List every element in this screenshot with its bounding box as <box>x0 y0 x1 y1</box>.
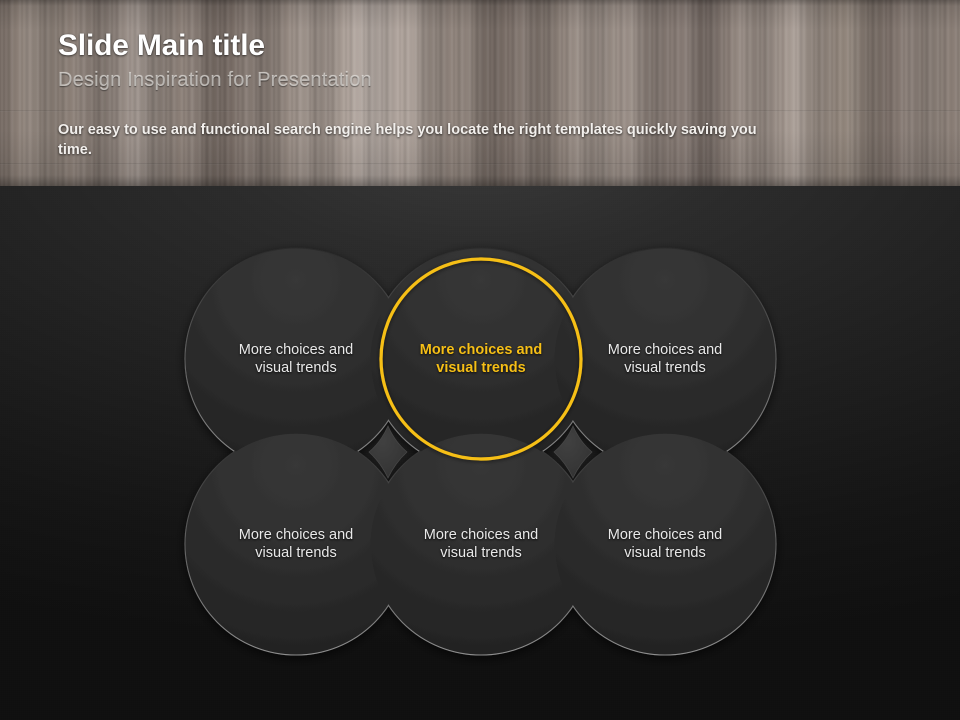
circle-label-top-center[interactable]: More choices and visual trends <box>381 341 581 377</box>
label-line-1: More choices and <box>565 341 765 359</box>
six-circle-diagram <box>0 186 960 720</box>
header-description-text: Our easy to use and functional search en… <box>58 120 773 160</box>
label-line-2: visual trends <box>565 544 765 562</box>
label-line-1: More choices and <box>381 341 581 359</box>
label-line-2: visual trends <box>381 359 581 377</box>
page-subtitle: Design Inspiration for Presentation <box>58 66 888 94</box>
label-line-2: visual trends <box>196 359 396 377</box>
circle-label-bottom-left[interactable]: More choices and visual trends <box>196 526 396 562</box>
label-line-1: More choices and <box>196 526 396 544</box>
slide-body-stage <box>0 186 960 720</box>
label-line-2: visual trends <box>565 359 765 377</box>
page-title: Slide Main title <box>58 28 888 64</box>
circle-label-top-right[interactable]: More choices and visual trends <box>565 341 765 377</box>
label-line-1: More choices and <box>196 341 396 359</box>
label-line-1: More choices and <box>381 526 581 544</box>
presentation-slide: Slide Main title Design Inspiration for … <box>0 0 960 720</box>
circle-cluster-shape <box>185 248 776 655</box>
circle-label-bottom-right[interactable]: More choices and visual trends <box>565 526 765 562</box>
circle-label-bottom-center[interactable]: More choices and visual trends <box>381 526 581 562</box>
slide-header-band: Slide Main title Design Inspiration for … <box>0 0 960 186</box>
header-text-block: Slide Main title Design Inspiration for … <box>58 28 888 94</box>
label-line-2: visual trends <box>381 544 581 562</box>
label-line-2: visual trends <box>196 544 396 562</box>
label-line-1: More choices and <box>565 526 765 544</box>
circle-label-top-left[interactable]: More choices and visual trends <box>196 341 396 377</box>
